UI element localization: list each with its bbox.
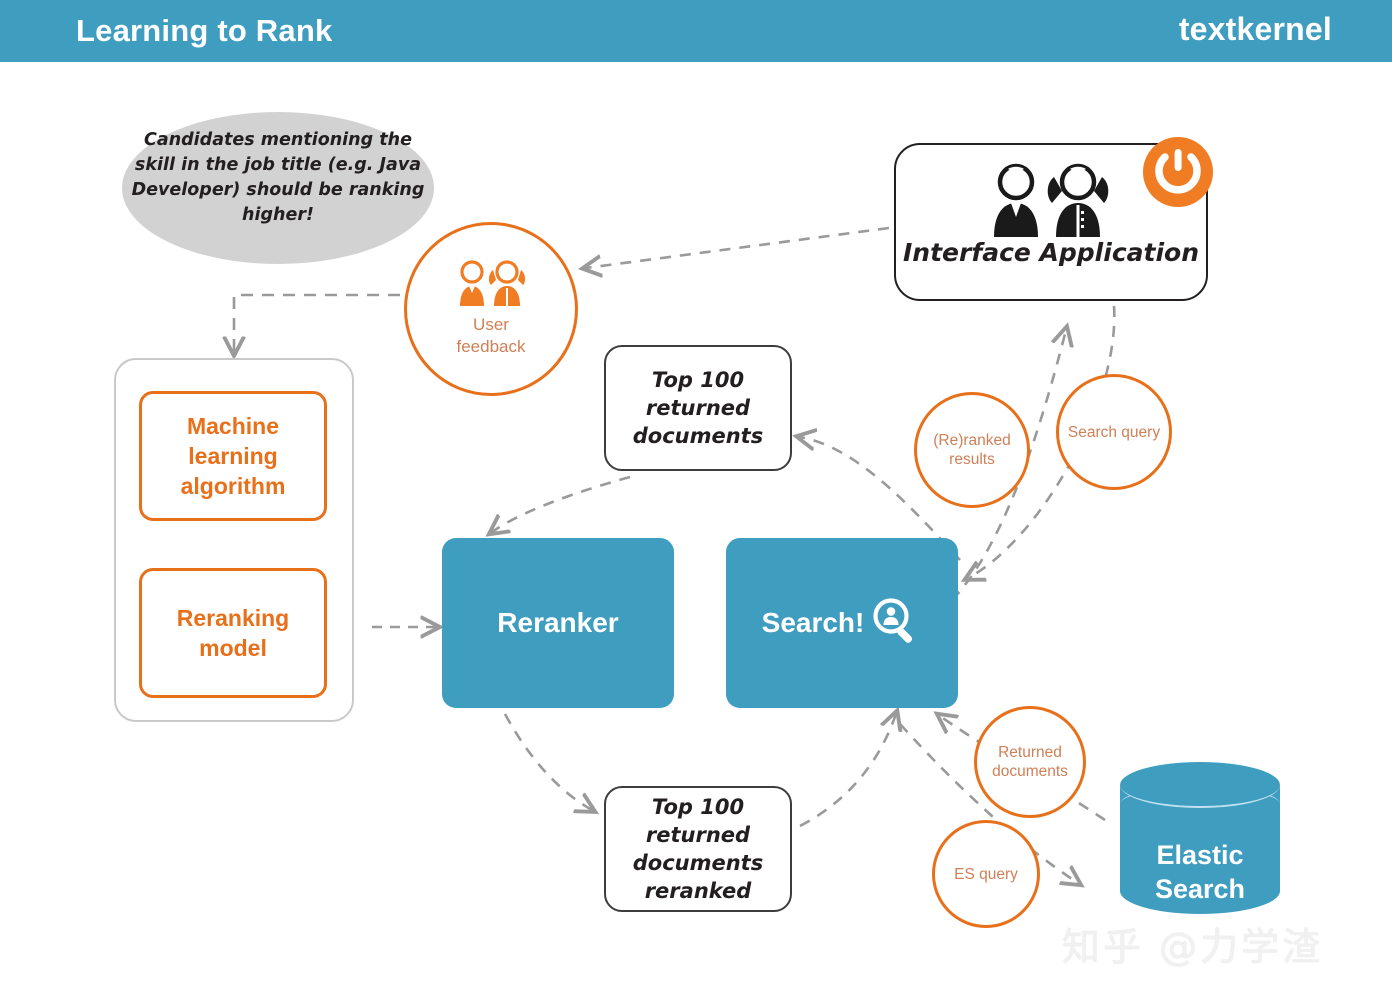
node-reranking-model-label: Reranking model [142, 603, 324, 663]
node-search[interactable]: Search! [726, 538, 958, 708]
node-machine-learning-algorithm[interactable]: Machine learning algorithm [139, 391, 327, 521]
node-es-query[interactable]: ES query [932, 820, 1040, 928]
node-top-100-returned-documents-reranked-label: Top 100 returned documents reranked [606, 793, 790, 905]
node-search-label: Search! [762, 607, 865, 639]
node-user-feedback-label: Userfeedback [457, 314, 526, 358]
brand-logo: textkernel [1179, 11, 1332, 48]
cylinder-top [1120, 762, 1280, 808]
node-es-query-label: ES query [954, 865, 1018, 884]
node-user-feedback[interactable]: Userfeedback [404, 222, 578, 396]
two-users-icon [452, 260, 530, 308]
watermark: 知乎 @力学渣 [1062, 916, 1323, 971]
node-reranker[interactable]: Reranker [442, 538, 674, 708]
node-reranker-label: Reranker [497, 607, 618, 639]
diagram-canvas: Learning to Rank textkernel [0, 0, 1392, 994]
node-elastic-search-label: Elastic Search [1120, 838, 1280, 906]
node-top-100-returned-documents-label: Top 100 returned documents [606, 366, 790, 450]
page-header: Learning to Rank textkernel [0, 0, 1392, 62]
node-reranked-results-label: (Re)ranked results [917, 431, 1027, 469]
node-machine-learning-algorithm-label: Machine learning algorithm [142, 411, 324, 501]
node-reranked-results[interactable]: (Re)ranked results [914, 392, 1030, 508]
node-search-query-label: Search query [1068, 423, 1160, 442]
person-search-icon [870, 595, 922, 647]
node-top-100-returned-documents-reranked[interactable]: Top 100 returned documents reranked [604, 786, 792, 912]
node-reranking-model[interactable]: Reranking model [139, 568, 327, 698]
node-search-query[interactable]: Search query [1056, 374, 1172, 490]
power-icon[interactable] [1143, 137, 1213, 207]
page-title: Learning to Rank [76, 13, 332, 49]
two-users-icon [982, 163, 1122, 241]
node-returned-documents[interactable]: Returned documents [974, 706, 1086, 818]
node-top-100-returned-documents[interactable]: Top 100 returned documents [604, 345, 792, 471]
node-returned-documents-label: Returned documents [977, 743, 1083, 781]
node-interface-application-label: Interface Application [894, 238, 1208, 267]
speech-bubble-text: Candidates mentioning the skill in the j… [122, 128, 434, 228]
